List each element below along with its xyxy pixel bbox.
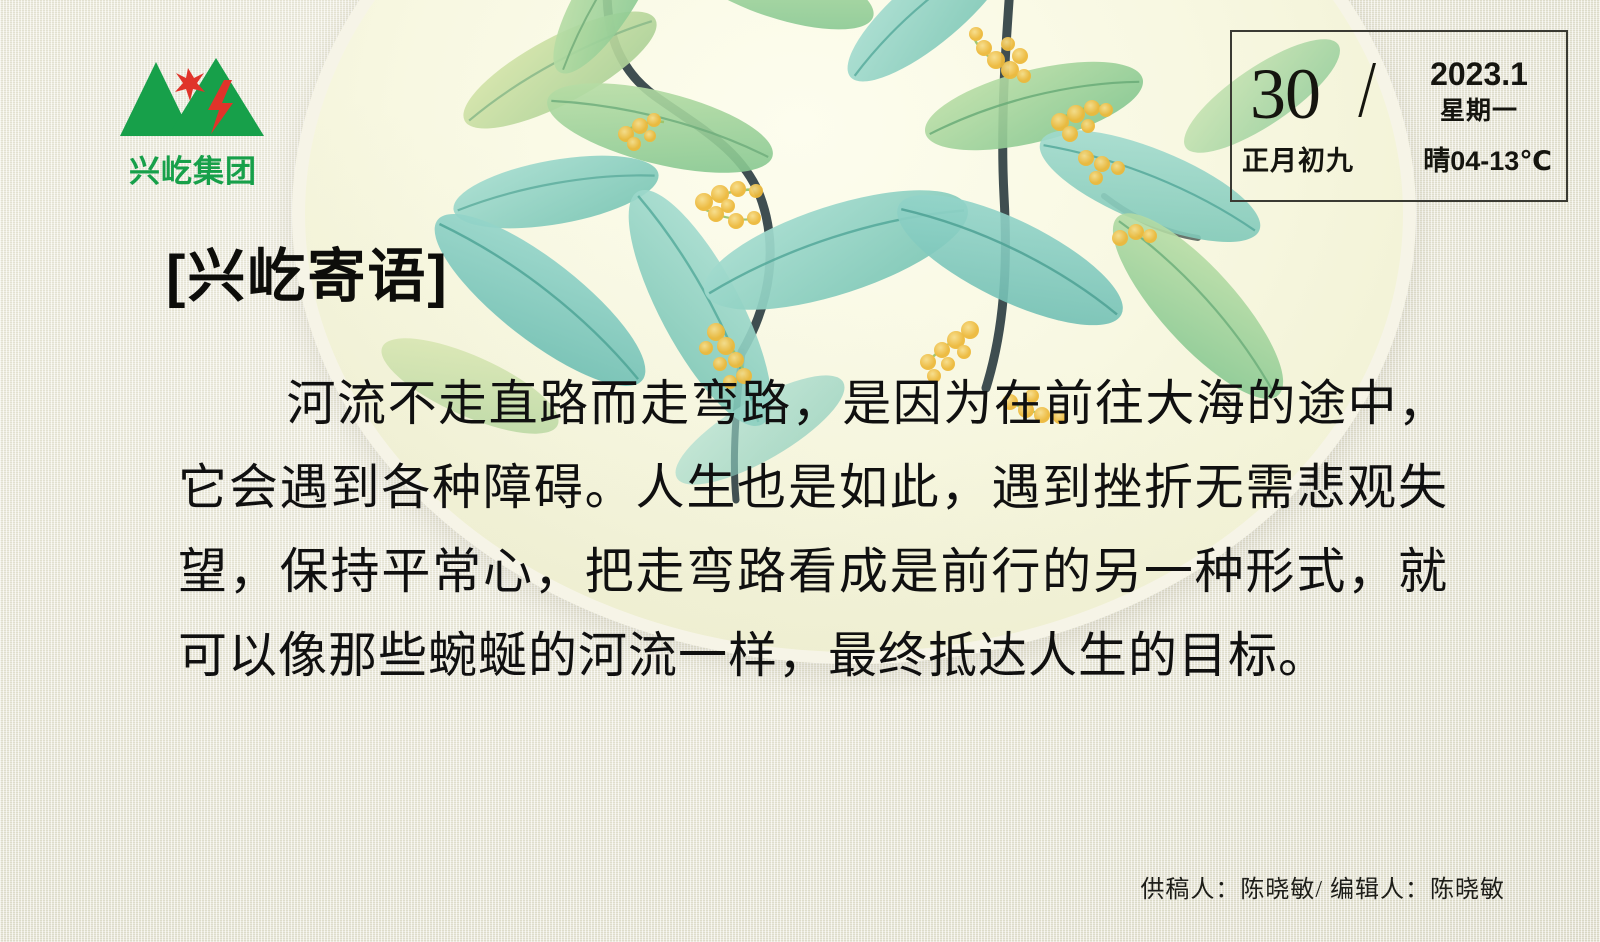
date-day: 30 (1250, 58, 1320, 130)
date-slash: / (1358, 50, 1376, 130)
date-year-month: 2023.1 (1404, 58, 1554, 92)
quote-text: 河流不走直路而走弯路，是因为在前往大海的途中，它会遇到各种障碍。人生也是如此，遇… (178, 376, 1448, 683)
quote-paragraph: 河流不走直路而走弯路，是因为在前往大海的途中，它会遇到各种障碍。人生也是如此，遇… (178, 362, 1448, 698)
daily-quote-poster: 兴屹集团 30 / 2023.1 星期一 正月初九 晴04-13℃ [兴屹寄语]… (0, 0, 1600, 942)
date-card: 30 / 2023.1 星期一 正月初九 晴04-13℃ (1230, 30, 1568, 202)
mountain-star-bolt-icon (118, 52, 268, 144)
logo-wordmark: 兴屹集团 (118, 146, 268, 191)
date-weather: 晴04-13℃ (1423, 139, 1552, 178)
company-logo: 兴屹集团 (118, 52, 268, 182)
credits-line: 供稿人：陈晓敏/ 编辑人：陈晓敏 (1140, 869, 1505, 904)
page-title: [兴屹寄语] (166, 248, 449, 306)
date-lunar: 正月初九 (1242, 139, 1354, 178)
date-weekday: 星期一 (1404, 98, 1554, 126)
